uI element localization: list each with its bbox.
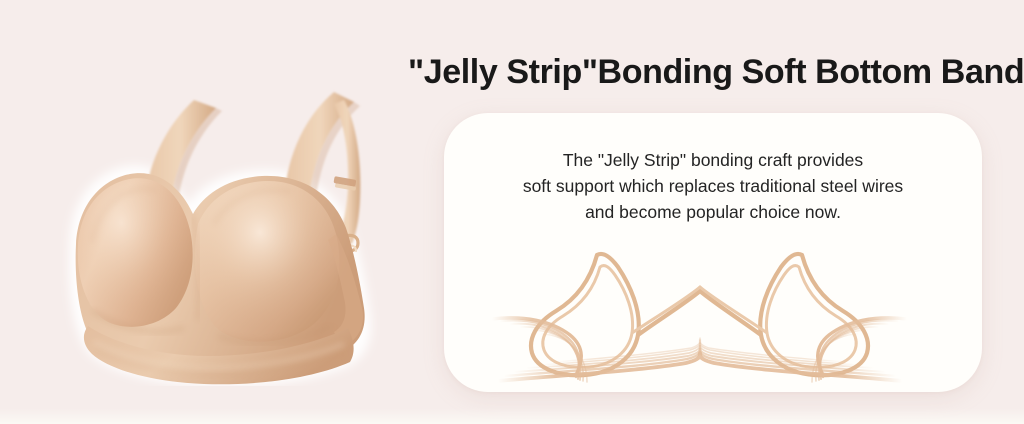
page-title: "Jelly Strip"Bonding Soft Bottom Band <box>408 50 992 94</box>
description-line-1: The "Jelly Strip" bonding craft provides <box>444 147 982 173</box>
product-feature-banner: "Jelly Strip"Bonding Soft Bottom Band Th… <box>0 0 1024 424</box>
info-card: The "Jelly Strip" bonding craft provides… <box>444 113 982 392</box>
description-line-2: soft support which replaces traditional … <box>444 173 982 199</box>
bra-line-art-diagram <box>490 241 936 387</box>
bottom-edge-wash <box>0 408 1024 424</box>
product-photo <box>48 74 398 386</box>
bra-body <box>76 173 365 384</box>
description-line-3: and become popular choice now. <box>444 199 982 225</box>
card-description: The "Jelly Strip" bonding craft provides… <box>444 147 982 225</box>
